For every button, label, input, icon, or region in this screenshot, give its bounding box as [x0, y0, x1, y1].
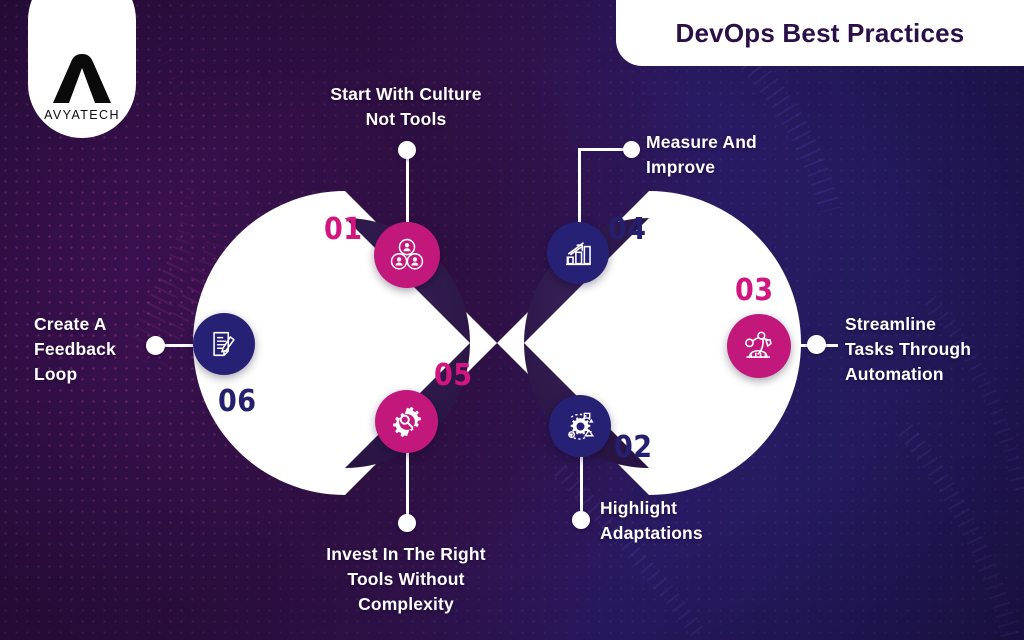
step-06-label-line3: Loop	[34, 362, 164, 387]
connector-dot-04	[623, 141, 640, 158]
step-01-label: Start With Culture Not Tools	[286, 82, 526, 132]
step-05-label-line3: Complexity	[286, 592, 526, 617]
connector-dot-05	[398, 514, 416, 532]
step-06-label: Create A Feedback Loop	[34, 312, 164, 387]
robot-arm-icon	[740, 327, 778, 365]
step-06-icon-bubble[interactable]	[193, 313, 255, 375]
step-01-label-line1: Start With Culture	[286, 82, 526, 107]
document-pencil-icon	[207, 327, 241, 361]
step-04-label: Measure And Improve	[646, 130, 876, 180]
step-03-label-line1: Streamline	[845, 312, 1020, 337]
connector-dot-02	[572, 511, 590, 529]
step-05-label: Invest In The Right Tools Without Comple…	[286, 542, 526, 617]
step-05-label-line1: Invest In The Right	[286, 542, 526, 567]
gear-shapes-adapt-icon	[562, 408, 599, 445]
page-title: DevOps Best Practices	[676, 18, 965, 49]
step-05-label-line2: Tools Without	[286, 567, 526, 592]
step-04-label-line2: Improve	[646, 155, 876, 180]
title-banner: DevOps Best Practices	[616, 0, 1024, 66]
step-05-icon-bubble[interactable]	[375, 390, 438, 453]
step-02-number: 02	[614, 430, 653, 465]
step-01-icon-bubble[interactable]	[374, 222, 440, 288]
team-people-icon	[388, 236, 426, 274]
step-06-label-line1: Create A	[34, 312, 164, 337]
step-01-number: 01	[324, 212, 363, 247]
connector-dot-01	[398, 141, 416, 159]
step-03-icon-bubble[interactable]	[727, 314, 791, 378]
step-02-icon-bubble[interactable]	[549, 395, 611, 457]
step-03-number: 03	[735, 273, 774, 308]
brand-logo-badge[interactable]: AVYATECH	[28, 0, 136, 138]
chevron-a-logo-icon	[51, 51, 113, 105]
step-06-number: 06	[218, 384, 257, 419]
step-03-label: Streamline Tasks Through Automation	[845, 312, 1020, 387]
step-01-label-line2: Not Tools	[286, 107, 526, 132]
step-06-label-line2: Feedback	[34, 337, 164, 362]
loop-word-ops: OPS	[612, 318, 714, 368]
step-02-label: Highlight Adaptations	[600, 496, 810, 546]
connector-dot-03	[807, 335, 826, 354]
step-03-label-line3: Automation	[845, 362, 1020, 387]
bar-chart-growth-icon	[561, 236, 595, 270]
loop-word-dev: DEV	[298, 318, 399, 368]
step-02-label-line2: Adaptations	[600, 521, 810, 546]
step-04-label-line1: Measure And	[646, 130, 876, 155]
infographic-canvas: DEV OPS Start With Culture Not Tools 01 …	[0, 0, 1024, 640]
gear-wrench-icon	[389, 404, 425, 440]
step-05-number: 05	[434, 358, 473, 393]
step-04-number: 04	[608, 212, 647, 247]
step-02-label-line1: Highlight	[600, 496, 810, 521]
step-03-label-line2: Tasks Through	[845, 337, 1020, 362]
step-04-icon-bubble[interactable]	[547, 222, 609, 284]
brand-logo-text: AVYATECH	[44, 108, 120, 122]
